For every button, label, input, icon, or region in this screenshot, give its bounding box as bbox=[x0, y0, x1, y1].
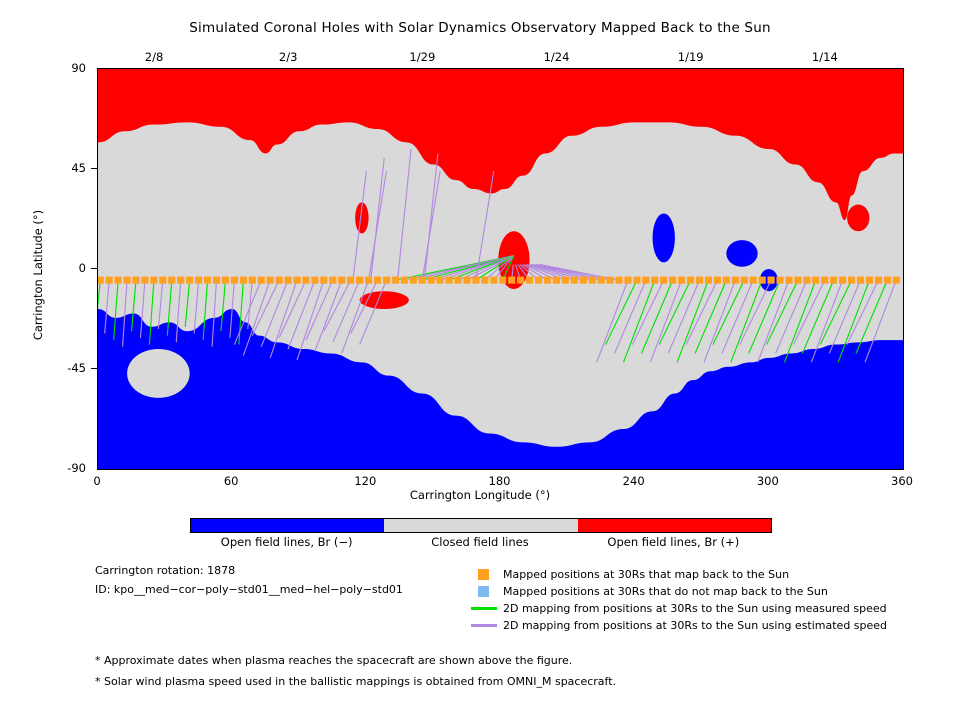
mapped-position-marker bbox=[732, 277, 739, 284]
mapping-legend: Mapped positions at 30Rs that map back t… bbox=[478, 566, 887, 634]
top-date-label: 1/14 bbox=[812, 50, 838, 64]
x-tick-label: 300 bbox=[757, 474, 779, 488]
y-tick-mark bbox=[91, 368, 97, 369]
legend-line-icon bbox=[471, 624, 497, 627]
mapped-position-marker bbox=[401, 277, 408, 284]
mapped-position-marker bbox=[526, 277, 533, 284]
mapped-position-marker bbox=[875, 277, 882, 284]
mapped-position-marker bbox=[231, 277, 238, 284]
mapped-position-marker bbox=[204, 277, 211, 284]
mapped-position-marker bbox=[606, 277, 613, 284]
mapping-line bbox=[158, 280, 162, 329]
x-tick-label: 0 bbox=[93, 474, 100, 488]
y-tick-label: 45 bbox=[40, 161, 86, 175]
mapped-position-marker bbox=[222, 277, 229, 284]
x-tick-label: 240 bbox=[623, 474, 645, 488]
mapped-position-marker bbox=[830, 277, 837, 284]
negative-field-blob bbox=[726, 240, 757, 267]
mapped-position-marker bbox=[311, 277, 318, 284]
colorbar bbox=[190, 518, 772, 533]
mapped-position-marker bbox=[705, 277, 712, 284]
mapped-position-marker bbox=[472, 277, 479, 284]
mapping-line bbox=[324, 280, 351, 331]
y-tick-mark bbox=[91, 168, 97, 169]
mapped-position-marker bbox=[794, 277, 801, 284]
mapped-position-marker bbox=[213, 277, 220, 284]
mapped-position-marker bbox=[374, 277, 381, 284]
x-tick-label: 360 bbox=[891, 474, 913, 488]
mapping-line-upper bbox=[424, 153, 437, 280]
mapped-position-marker bbox=[884, 277, 891, 284]
y-axis-title: Carrington Latitude (°) bbox=[31, 175, 45, 375]
mapped-position-marker bbox=[615, 277, 622, 284]
mapped-position-marker bbox=[893, 277, 900, 284]
mapped-position-marker bbox=[463, 277, 470, 284]
footnote-dates: * Approximate dates when plasma reaches … bbox=[95, 654, 572, 667]
mapped-position-marker bbox=[741, 277, 748, 284]
mapped-position-marker bbox=[651, 277, 658, 284]
mapped-position-marker bbox=[177, 277, 184, 284]
mapping-line bbox=[279, 280, 306, 338]
mapped-position-marker bbox=[410, 277, 417, 284]
mapping-line-upper bbox=[398, 149, 411, 280]
y-tick-mark bbox=[91, 268, 97, 269]
mapped-position-marker bbox=[785, 277, 792, 284]
mapped-position-marker bbox=[750, 277, 757, 284]
legend-label: 2D mapping from positions at 30Rs to the… bbox=[503, 619, 887, 632]
colorbar-label: Open field lines, Br (+) bbox=[547, 535, 800, 549]
x-axis-title: Carrington Longitude (°) bbox=[0, 488, 960, 502]
mapped-position-marker bbox=[168, 277, 175, 284]
mapping-line bbox=[185, 280, 189, 327]
x-tick-label: 60 bbox=[224, 474, 239, 488]
x-tick-label: 180 bbox=[489, 474, 511, 488]
top-date-label: 2/3 bbox=[279, 50, 298, 64]
legend-row: Mapped positions at 30Rs that map back t… bbox=[478, 566, 887, 583]
mapping-line-upper bbox=[369, 171, 387, 280]
mapping-line bbox=[597, 280, 628, 362]
mapped-position-marker bbox=[633, 277, 640, 284]
mapped-position-marker bbox=[240, 277, 247, 284]
mapped-position-marker bbox=[535, 277, 542, 284]
mapped-position-marker bbox=[598, 277, 605, 284]
mapped-position-marker bbox=[419, 277, 426, 284]
positive-field-blob bbox=[847, 205, 869, 232]
mapped-position-marker bbox=[687, 277, 694, 284]
chart-title: Simulated Coronal Holes with Solar Dynam… bbox=[0, 20, 960, 36]
mapped-position-marker bbox=[150, 277, 157, 284]
mapped-position-marker bbox=[669, 277, 676, 284]
mapped-position-marker bbox=[437, 277, 444, 284]
mapped-position-marker bbox=[365, 277, 372, 284]
mapped-position-marker bbox=[320, 277, 327, 284]
legend-label: 2D mapping from positions at 30Rs to the… bbox=[503, 602, 887, 615]
mapped-position-marker bbox=[195, 277, 202, 284]
mapped-position-marker bbox=[696, 277, 703, 284]
mapped-position-marker bbox=[258, 277, 265, 284]
y-tick-label: -90 bbox=[40, 461, 86, 475]
mapped-position-marker bbox=[767, 277, 774, 284]
mapped-position-marker bbox=[347, 277, 354, 284]
mapped-position-marker bbox=[267, 277, 274, 284]
mapped-position-marker bbox=[454, 277, 461, 284]
mapped-position-marker bbox=[141, 277, 148, 284]
positive-open-field-region bbox=[98, 69, 903, 220]
mapped-position-marker bbox=[383, 277, 390, 284]
mapped-position-marker bbox=[580, 277, 587, 284]
mapped-position-marker bbox=[803, 277, 810, 284]
mapped-position-marker bbox=[553, 277, 560, 284]
mapped-position-marker bbox=[812, 277, 819, 284]
legend-square-icon bbox=[478, 586, 489, 597]
figure: Simulated Coronal Holes with Solar Dynam… bbox=[0, 0, 960, 720]
mapped-position-marker bbox=[106, 277, 113, 284]
mapped-position-marker bbox=[821, 277, 828, 284]
top-date-label: 2/8 bbox=[145, 50, 164, 64]
mapped-position-marker bbox=[499, 277, 506, 284]
mapped-position-marker bbox=[678, 277, 685, 284]
mapped-position-marker bbox=[428, 277, 435, 284]
mapped-position-marker bbox=[123, 277, 130, 284]
mapped-position-marker bbox=[284, 277, 291, 284]
y-tick-label: -45 bbox=[40, 361, 86, 375]
carrington-rotation-text: Carrington rotation: 1878 bbox=[95, 564, 235, 577]
y-tick-label: 0 bbox=[40, 261, 86, 275]
colorbar-segment bbox=[191, 519, 384, 532]
legend-label: Mapped positions at 30Rs that do not map… bbox=[503, 585, 828, 598]
legend-line-icon bbox=[471, 607, 497, 610]
negative-open-field-region bbox=[98, 309, 903, 469]
mapping-line-upper bbox=[422, 171, 440, 280]
mapped-position-marker bbox=[776, 277, 783, 284]
mapped-position-marker bbox=[132, 277, 139, 284]
mapped-position-marker bbox=[517, 277, 524, 284]
mapping-line bbox=[252, 280, 279, 336]
plot-area bbox=[97, 68, 904, 470]
x-tick-label: 120 bbox=[354, 474, 376, 488]
mapping-line-upper bbox=[371, 158, 384, 280]
legend-row: Mapped positions at 30Rs that do not map… bbox=[478, 583, 887, 600]
mapped-position-marker bbox=[293, 277, 300, 284]
mapped-position-marker bbox=[186, 277, 193, 284]
mapped-position-marker bbox=[759, 277, 766, 284]
mapped-position-marker bbox=[642, 277, 649, 284]
colorbar-segment bbox=[578, 519, 771, 532]
mapped-position-marker bbox=[115, 277, 122, 284]
top-date-label: 1/29 bbox=[409, 50, 435, 64]
mapped-position-marker bbox=[624, 277, 631, 284]
top-date-label: 1/19 bbox=[678, 50, 704, 64]
mapped-position-marker bbox=[490, 277, 497, 284]
legend-square-icon bbox=[478, 569, 489, 580]
mapped-position-marker bbox=[723, 277, 730, 284]
closed-field-island bbox=[127, 349, 190, 398]
legend-row: 2D mapping from positions at 30Rs to the… bbox=[478, 617, 887, 634]
mapped-position-marker bbox=[660, 277, 667, 284]
mapped-position-marker bbox=[839, 277, 846, 284]
negative-field-blob bbox=[653, 213, 675, 262]
mapped-position-marker bbox=[544, 277, 551, 284]
colorbar-segment bbox=[384, 519, 577, 532]
mapped-position-marker bbox=[562, 277, 569, 284]
legend-label: Mapped positions at 30Rs that map back t… bbox=[503, 568, 789, 581]
mapping-line bbox=[194, 280, 198, 333]
mapped-position-marker bbox=[508, 277, 515, 284]
footnote-speed: * Solar wind plasma speed used in the ba… bbox=[95, 675, 616, 688]
mapped-position-marker bbox=[866, 277, 873, 284]
legend-row: 2D mapping from positions at 30Rs to the… bbox=[478, 600, 887, 617]
mapped-position-marker bbox=[481, 277, 488, 284]
mapped-position-marker bbox=[338, 277, 345, 284]
top-date-label: 1/24 bbox=[544, 50, 570, 64]
mapped-position-marker bbox=[714, 277, 721, 284]
mapped-position-marker bbox=[857, 277, 864, 284]
mapped-position-marker bbox=[445, 277, 452, 284]
mapped-position-marker bbox=[392, 277, 399, 284]
mapped-position-marker bbox=[159, 277, 166, 284]
mapped-position-marker bbox=[98, 277, 104, 284]
y-tick-label: 90 bbox=[40, 61, 86, 75]
mapped-position-marker bbox=[249, 277, 256, 284]
dataset-id-text: ID: kpo__med−cor−poly−std01__med−hel−pol… bbox=[95, 583, 403, 596]
mapped-position-marker bbox=[302, 277, 309, 284]
coronal-hole-map bbox=[98, 69, 903, 469]
mapping-line bbox=[306, 280, 333, 340]
mapped-position-marker bbox=[276, 277, 283, 284]
mapped-position-marker bbox=[356, 277, 363, 284]
mapped-position-marker bbox=[848, 277, 855, 284]
mapped-position-marker bbox=[329, 277, 336, 284]
mapped-position-marker bbox=[571, 277, 578, 284]
mapped-position-marker bbox=[589, 277, 596, 284]
